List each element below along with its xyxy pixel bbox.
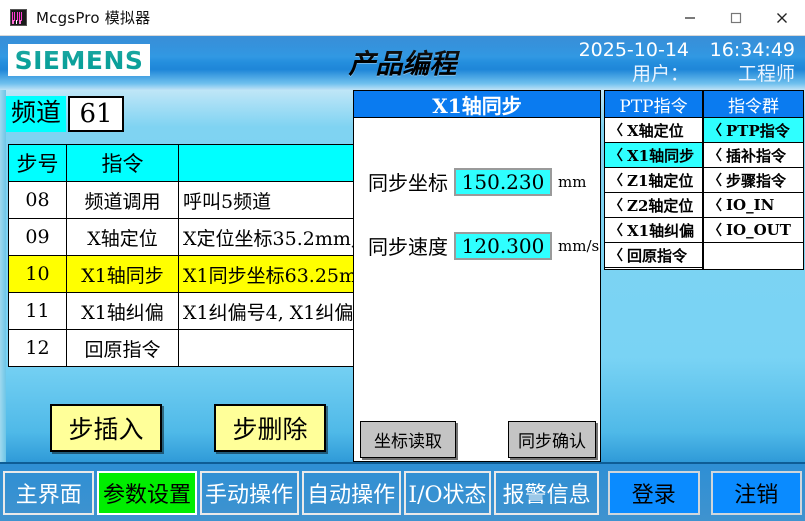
- chevron-left-icon: 〈: [708, 170, 722, 190]
- cell-step: 08: [9, 182, 67, 219]
- nav-button-4[interactable]: I/O状态: [404, 471, 492, 515]
- sync-speed-unit: mm/s: [558, 237, 599, 255]
- window-title-bar: McgsPro 模拟器: [0, 0, 805, 36]
- group-item-label: PTP指令: [726, 120, 790, 141]
- ptp-item-label: X1轴纠偏: [627, 220, 694, 241]
- sync-coordinate-input[interactable]: 150.230: [454, 168, 552, 196]
- app-header: SIEMENS 产品编程 2025-10-14 16:34:49 用户： 工程师: [0, 36, 805, 90]
- group-item-label: IO_IN: [726, 196, 774, 214]
- header-user-value: 工程师: [703, 62, 795, 86]
- sync-coordinate-label: 同步坐标: [368, 167, 448, 196]
- chevron-left-icon: 〈: [609, 170, 623, 190]
- ptp-item-label: 回原指令: [627, 245, 687, 266]
- header-date: 2025-10-14: [564, 38, 689, 62]
- ptp-panel-title: PTP指令: [605, 91, 702, 118]
- sync-confirm-button[interactable]: 同步确认: [508, 421, 596, 458]
- cell-step: 12: [9, 330, 67, 367]
- group-item-2[interactable]: 〈步骤指令: [704, 168, 803, 193]
- cell-command: X1轴纠偏: [67, 293, 179, 330]
- cell-command: X轴定位: [67, 219, 179, 256]
- sync-speed-input[interactable]: 120.300: [454, 232, 552, 260]
- nav-button-6[interactable]: 登录: [608, 471, 699, 515]
- dialog-title: X1轴同步: [354, 91, 600, 118]
- header-user-label: 用户：: [564, 62, 689, 86]
- ptp-item-label: Z1轴定位: [627, 170, 693, 191]
- channel-field: 频道 61: [6, 96, 124, 132]
- chevron-left-icon: 〈: [609, 120, 623, 140]
- cell-step: 09: [9, 219, 67, 256]
- cell-step: 10: [9, 256, 67, 293]
- application-window: McgsPro 模拟器 SIEMENS 产品编程 2025-10-14 16:3…: [0, 0, 805, 521]
- ptp-item-2[interactable]: 〈Z1轴定位: [605, 168, 702, 193]
- bottom-navigation-bar: 主界面参数设置手动操作自动操作I/O状态报警信息登录注销: [0, 462, 805, 521]
- window-title: McgsPro 模拟器: [36, 7, 150, 28]
- nav-button-0[interactable]: 主界面: [3, 471, 94, 515]
- group-item-label: 步骤指令: [726, 170, 786, 191]
- group-item-empty: [704, 243, 803, 268]
- ptp-item-1[interactable]: 〈X1轴同步: [605, 143, 702, 168]
- chevron-left-icon: 〈: [708, 195, 722, 215]
- ptp-item-label: X轴定位: [627, 120, 684, 141]
- ptp-item-label: Z2轴定位: [627, 195, 693, 216]
- close-icon[interactable]: [759, 0, 805, 36]
- window-controls: [667, 0, 805, 36]
- channel-label: 频道: [6, 96, 66, 132]
- chevron-left-icon: 〈: [708, 220, 722, 240]
- nav-button-7[interactable]: 注销: [711, 471, 802, 515]
- read-coordinate-button[interactable]: 坐标读取: [360, 421, 456, 458]
- app-waveform-icon: [10, 9, 27, 26]
- column-header-command: 指令: [67, 145, 179, 182]
- x1-sync-dialog: X1轴同步 同步坐标 150.230 mm 同步速度 120.300 mm/s …: [353, 90, 601, 462]
- chevron-left-icon: 〈: [708, 120, 722, 140]
- channel-input[interactable]: 61: [68, 96, 124, 132]
- ptp-item-3[interactable]: 〈Z2轴定位: [605, 193, 702, 218]
- step-delete-button[interactable]: 步删除: [214, 404, 326, 452]
- nav-button-2[interactable]: 手动操作: [200, 471, 299, 515]
- cell-command: 回原指令: [67, 330, 179, 367]
- group-item-0[interactable]: 〈PTP指令: [704, 118, 803, 143]
- sync-speed-label: 同步速度: [368, 231, 448, 260]
- nav-button-1[interactable]: 参数设置: [97, 471, 196, 515]
- column-header-step: 步号: [9, 145, 67, 182]
- chevron-left-icon: 〈: [609, 195, 623, 215]
- chevron-left-icon: 〈: [609, 145, 623, 165]
- chevron-left-icon: 〈: [609, 245, 623, 265]
- sync-speed-field: 同步速度 120.300 mm/s: [368, 231, 599, 260]
- group-item-4[interactable]: 〈IO_OUT: [704, 218, 803, 243]
- header-time: 16:34:49: [703, 38, 795, 62]
- group-item-label: IO_OUT: [726, 221, 791, 239]
- sync-coordinate-field: 同步坐标 150.230 mm: [368, 167, 586, 196]
- page-left-edge: [0, 90, 6, 462]
- ptp-item-label: X1轴同步: [627, 145, 694, 166]
- cell-step: 11: [9, 293, 67, 330]
- command-group-panel: 指令群 〈PTP指令〈插补指令〈步骤指令〈IO_IN〈IO_OUT: [703, 90, 804, 270]
- ptp-item-0[interactable]: 〈X轴定位: [605, 118, 702, 143]
- chevron-left-icon: 〈: [609, 220, 623, 240]
- group-panel-title: 指令群: [704, 91, 803, 118]
- header-datetime-user: 2025-10-14 16:34:49 用户： 工程师: [564, 38, 795, 86]
- cell-command: X1轴同步: [67, 256, 179, 293]
- cell-command: 频道调用: [67, 182, 179, 219]
- ptp-item-5[interactable]: 〈回原指令: [605, 243, 702, 268]
- maximize-icon[interactable]: [713, 0, 759, 36]
- nav-button-5[interactable]: 报警信息: [494, 471, 599, 515]
- ptp-item-4[interactable]: 〈X1轴纠偏: [605, 218, 702, 243]
- minimize-icon[interactable]: [667, 0, 713, 36]
- nav-button-3[interactable]: 自动操作: [302, 471, 401, 515]
- group-item-label: 插补指令: [726, 145, 786, 166]
- sync-coordinate-unit: mm: [558, 173, 586, 191]
- ptp-command-panel: PTP指令 〈X轴定位〈X1轴同步〈Z1轴定位〈Z2轴定位〈X1轴纠偏〈回原指令: [604, 90, 703, 270]
- step-insert-button[interactable]: 步插入: [50, 404, 162, 452]
- group-item-1[interactable]: 〈插补指令: [704, 143, 803, 168]
- chevron-left-icon: 〈: [708, 145, 722, 165]
- group-item-3[interactable]: 〈IO_IN: [704, 193, 803, 218]
